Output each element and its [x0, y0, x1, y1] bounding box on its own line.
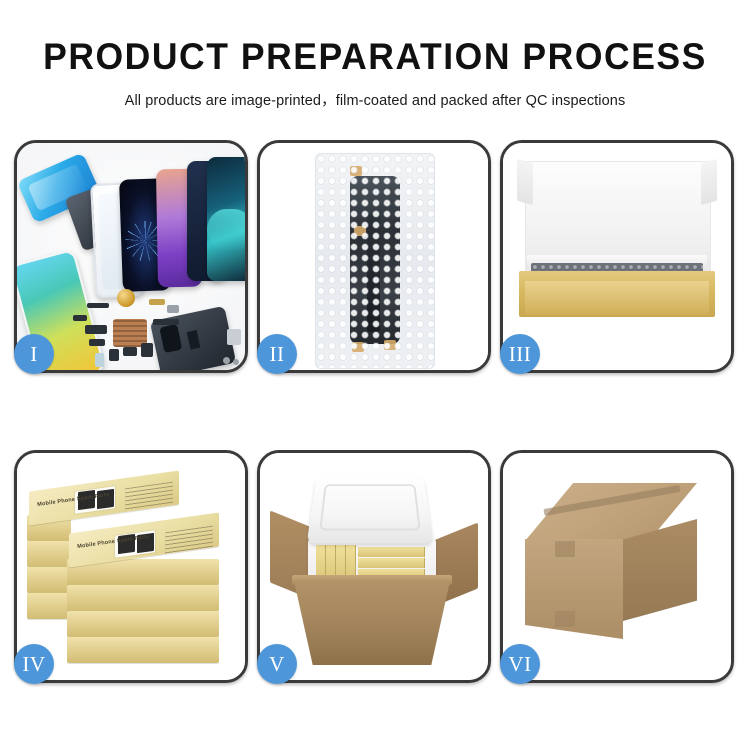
bubble-wrap-bag: [315, 153, 435, 369]
shipping-box-tape: [555, 541, 575, 557]
stacked-box: [27, 541, 71, 567]
yellow-box-flat: [358, 558, 425, 568]
part-clip: [73, 315, 87, 321]
part-bracket: [167, 305, 179, 313]
header: PRODUCT PREPARATION PROCESS All products…: [0, 0, 750, 110]
part-vibrator: [141, 343, 153, 357]
step-3-badge: III: [500, 334, 540, 374]
mailer-box-front: [525, 281, 709, 315]
part-button: [109, 349, 119, 361]
screw: [223, 357, 230, 364]
part-sensor: [89, 339, 105, 346]
box-lid-right-wing: [701, 159, 717, 206]
step-2-badge: II: [257, 334, 297, 374]
part-strip: [87, 303, 109, 308]
process-step-6: VI: [500, 450, 734, 683]
stacked-box: [67, 637, 219, 663]
step-3-image: [503, 143, 731, 370]
screwdriver-tool: [227, 329, 241, 345]
step-1-image: [17, 143, 245, 370]
process-step-1: I: [14, 140, 248, 373]
gold-speaker-component: [117, 289, 135, 307]
part-flex: [123, 347, 137, 356]
part-connector: [149, 299, 165, 305]
carton-body: [294, 581, 450, 665]
process-step-grid: I II: [14, 140, 736, 683]
process-step-2: II: [257, 140, 491, 373]
box-lid-left-wing: [517, 159, 533, 206]
step-1-badge: I: [14, 334, 54, 374]
page-subtitle: All products are image-printed，film-coat…: [0, 89, 750, 110]
step-4-badge: IV: [14, 644, 54, 684]
stacked-box: [67, 585, 219, 611]
stacked-box: [67, 611, 219, 637]
step-5-badge: V: [257, 644, 297, 684]
retail-box-stack: Mobile Phone Spare Parts Mobile Phone Sp…: [27, 475, 241, 665]
part-camera: [85, 325, 107, 334]
yellow-box-flat: [358, 547, 425, 557]
step-4-image: Mobile Phone Spare Parts Mobile Phone Sp…: [17, 453, 245, 680]
process-step-4: Mobile Phone Spare Parts Mobile Phone Sp…: [14, 450, 248, 683]
bubble-texture: [316, 154, 434, 368]
foam-box-lid: [307, 476, 434, 543]
step-6-badge: VI: [500, 644, 540, 684]
page-title: PRODUCT PREPARATION PROCESS: [15, 38, 735, 77]
product-preparation-infographic: PRODUCT PREPARATION PROCESS All products…: [0, 0, 750, 750]
step-2-image: [260, 143, 488, 370]
stacked-box: [27, 567, 71, 593]
part-cable: [153, 319, 179, 325]
process-step-3: III: [500, 140, 734, 373]
shipping-box-tape: [555, 611, 575, 627]
screw: [233, 359, 239, 365]
step-5-image: [260, 453, 488, 680]
step-6-image: [503, 453, 731, 680]
process-step-5: V: [257, 450, 491, 683]
stacked-box: [27, 593, 71, 619]
teal-wave-phone: [207, 157, 245, 281]
part-lens: [95, 353, 104, 367]
